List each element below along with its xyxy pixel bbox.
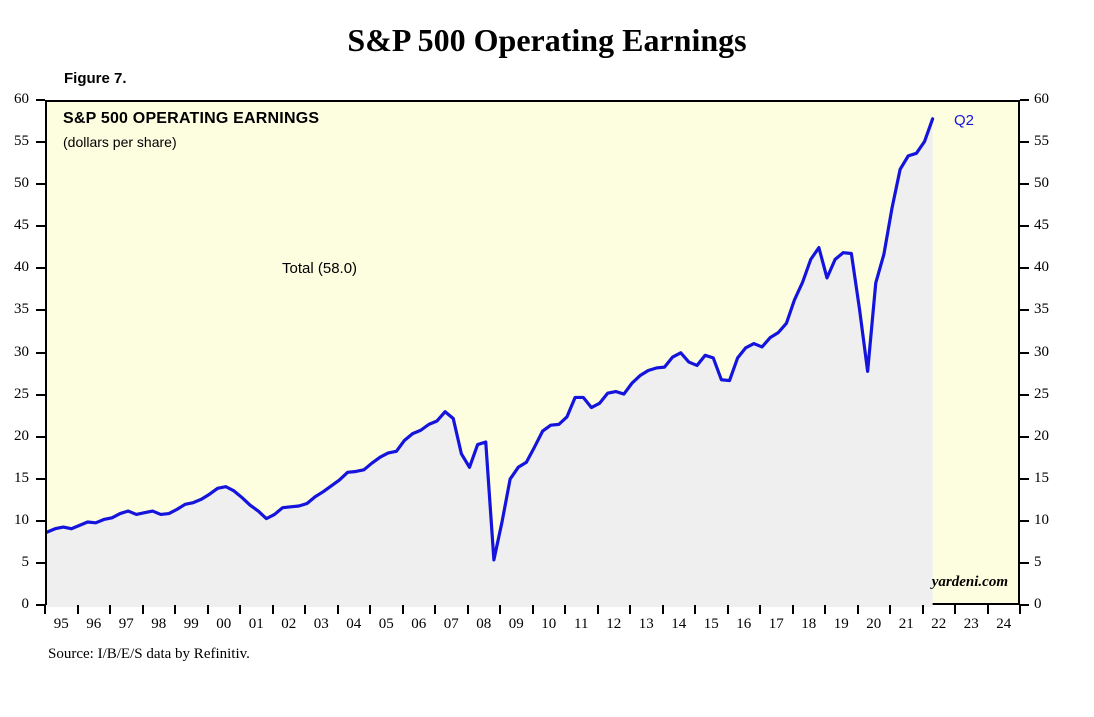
x-axis-label: 98 xyxy=(142,616,176,633)
x-axis-tick xyxy=(694,605,696,614)
x-axis-tick xyxy=(759,605,761,614)
x-axis-label: 22 xyxy=(922,616,956,633)
x-axis-tick xyxy=(1019,605,1021,614)
y-axis-label: 0 xyxy=(5,596,29,613)
y-axis-tick xyxy=(36,309,45,311)
y-axis-tick xyxy=(1020,394,1029,396)
x-axis-label: 96 xyxy=(77,616,111,633)
y-axis-label: 15 xyxy=(5,470,29,487)
y-axis-tick xyxy=(36,99,45,101)
y-axis-tick xyxy=(36,225,45,227)
y-axis-label: 60 xyxy=(5,91,29,108)
x-axis-label: 23 xyxy=(954,616,988,633)
y-axis-label: 5 xyxy=(5,554,29,571)
x-axis-tick xyxy=(824,605,826,614)
x-axis-label: 24 xyxy=(987,616,1021,633)
x-axis-label: 99 xyxy=(174,616,208,633)
y-axis-label: 60 xyxy=(1034,91,1058,108)
y-axis-tick xyxy=(36,478,45,480)
x-axis-label: 18 xyxy=(792,616,826,633)
x-axis-tick xyxy=(727,605,729,614)
watermark: yardeni.com xyxy=(932,574,1008,591)
y-axis-tick xyxy=(36,562,45,564)
x-axis-label: 06 xyxy=(402,616,436,633)
x-axis-label: 21 xyxy=(889,616,923,633)
x-axis-label: 00 xyxy=(207,616,241,633)
y-axis-tick xyxy=(1020,99,1029,101)
y-axis-tick xyxy=(1020,352,1029,354)
x-axis-label: 01 xyxy=(239,616,273,633)
x-axis-tick xyxy=(109,605,111,614)
y-axis-label: 25 xyxy=(5,386,29,403)
y-axis-label: 50 xyxy=(1034,175,1058,192)
x-axis-tick xyxy=(564,605,566,614)
y-axis-tick xyxy=(36,267,45,269)
x-axis-label: 08 xyxy=(467,616,501,633)
y-axis-tick xyxy=(36,183,45,185)
y-axis-label: 50 xyxy=(5,175,29,192)
y-axis-label: 35 xyxy=(5,301,29,318)
y-axis-tick xyxy=(1020,478,1029,480)
y-axis-label: 55 xyxy=(5,133,29,150)
area-fill xyxy=(47,119,933,607)
x-axis-tick xyxy=(987,605,989,614)
y-axis-label: 5 xyxy=(1034,554,1058,571)
x-axis-label: 04 xyxy=(337,616,371,633)
source-note: Source: I/B/E/S data by Refinitiv. xyxy=(48,646,250,663)
x-axis-tick xyxy=(467,605,469,614)
y-axis-label: 40 xyxy=(1034,259,1058,276)
y-axis-tick xyxy=(1020,141,1029,143)
x-axis-tick xyxy=(207,605,209,614)
y-axis-tick xyxy=(36,141,45,143)
chart-title: S&P 500 OPERATING EARNINGS xyxy=(63,110,319,128)
chart-plot-area: S&P 500 OPERATING EARNINGS (dollars per … xyxy=(45,100,1020,605)
page-title: S&P 500 Operating Earnings xyxy=(0,22,1094,59)
y-axis-tick xyxy=(36,520,45,522)
y-axis-tick xyxy=(36,352,45,354)
y-axis-label: 45 xyxy=(1034,217,1058,234)
x-axis-tick xyxy=(532,605,534,614)
y-axis-label: 10 xyxy=(1034,512,1058,529)
y-axis-label: 20 xyxy=(1034,428,1058,445)
y-axis-label: 30 xyxy=(5,344,29,361)
x-axis-tick xyxy=(629,605,631,614)
y-axis-tick xyxy=(1020,183,1029,185)
x-axis-tick xyxy=(369,605,371,614)
figure-label: Figure 7. xyxy=(64,70,127,87)
x-axis-label: 16 xyxy=(727,616,761,633)
y-axis-tick xyxy=(36,436,45,438)
x-axis-tick xyxy=(499,605,501,614)
x-axis-label: 17 xyxy=(759,616,793,633)
x-axis-tick xyxy=(77,605,79,614)
y-axis-label: 15 xyxy=(1034,470,1058,487)
x-axis-tick xyxy=(434,605,436,614)
y-axis-tick xyxy=(1020,225,1029,227)
x-axis-label: 09 xyxy=(499,616,533,633)
series-annotation: Total (58.0) xyxy=(282,260,357,277)
x-axis-label: 95 xyxy=(44,616,78,633)
x-axis-label: 19 xyxy=(824,616,858,633)
x-axis-tick xyxy=(597,605,599,614)
x-axis-tick xyxy=(662,605,664,614)
x-axis-tick xyxy=(889,605,891,614)
x-axis-label: 11 xyxy=(564,616,598,633)
x-axis-tick xyxy=(174,605,176,614)
y-axis-label: 0 xyxy=(1034,596,1058,613)
earnings-area-chart xyxy=(47,102,1022,607)
x-axis-tick xyxy=(857,605,859,614)
x-axis-label: 02 xyxy=(272,616,306,633)
y-axis-tick xyxy=(1020,267,1029,269)
x-axis-tick xyxy=(402,605,404,614)
y-axis-tick xyxy=(1020,604,1029,606)
x-axis-tick xyxy=(922,605,924,614)
x-axis-tick xyxy=(239,605,241,614)
x-axis-tick xyxy=(792,605,794,614)
x-axis-tick xyxy=(304,605,306,614)
x-axis-label: 14 xyxy=(662,616,696,633)
y-axis-tick xyxy=(1020,436,1029,438)
x-axis-label: 13 xyxy=(629,616,663,633)
chart-subtitle: (dollars per share) xyxy=(63,134,177,150)
y-axis-tick xyxy=(36,394,45,396)
y-axis-label: 55 xyxy=(1034,133,1058,150)
y-axis-label: 45 xyxy=(5,217,29,234)
x-axis-tick xyxy=(337,605,339,614)
x-axis-label: 03 xyxy=(304,616,338,633)
y-axis-label: 25 xyxy=(1034,386,1058,403)
x-axis-label: 20 xyxy=(857,616,891,633)
x-axis-label: 05 xyxy=(369,616,403,633)
x-axis-label: 07 xyxy=(434,616,468,633)
x-axis-label: 10 xyxy=(532,616,566,633)
y-axis-label: 10 xyxy=(5,512,29,529)
endpoint-label: Q2 xyxy=(954,112,974,129)
x-axis-label: 15 xyxy=(694,616,728,633)
y-axis-label: 40 xyxy=(5,259,29,276)
y-axis-label: 30 xyxy=(1034,344,1058,361)
x-axis-label: 12 xyxy=(597,616,631,633)
x-axis-tick xyxy=(954,605,956,614)
x-axis-tick xyxy=(272,605,274,614)
x-axis-label: 97 xyxy=(109,616,143,633)
y-axis-tick xyxy=(1020,562,1029,564)
y-axis-tick xyxy=(1020,520,1029,522)
x-axis-tick xyxy=(142,605,144,614)
x-axis-tick xyxy=(44,605,46,614)
y-axis-tick xyxy=(1020,309,1029,311)
y-axis-label: 20 xyxy=(5,428,29,445)
y-axis-label: 35 xyxy=(1034,301,1058,318)
